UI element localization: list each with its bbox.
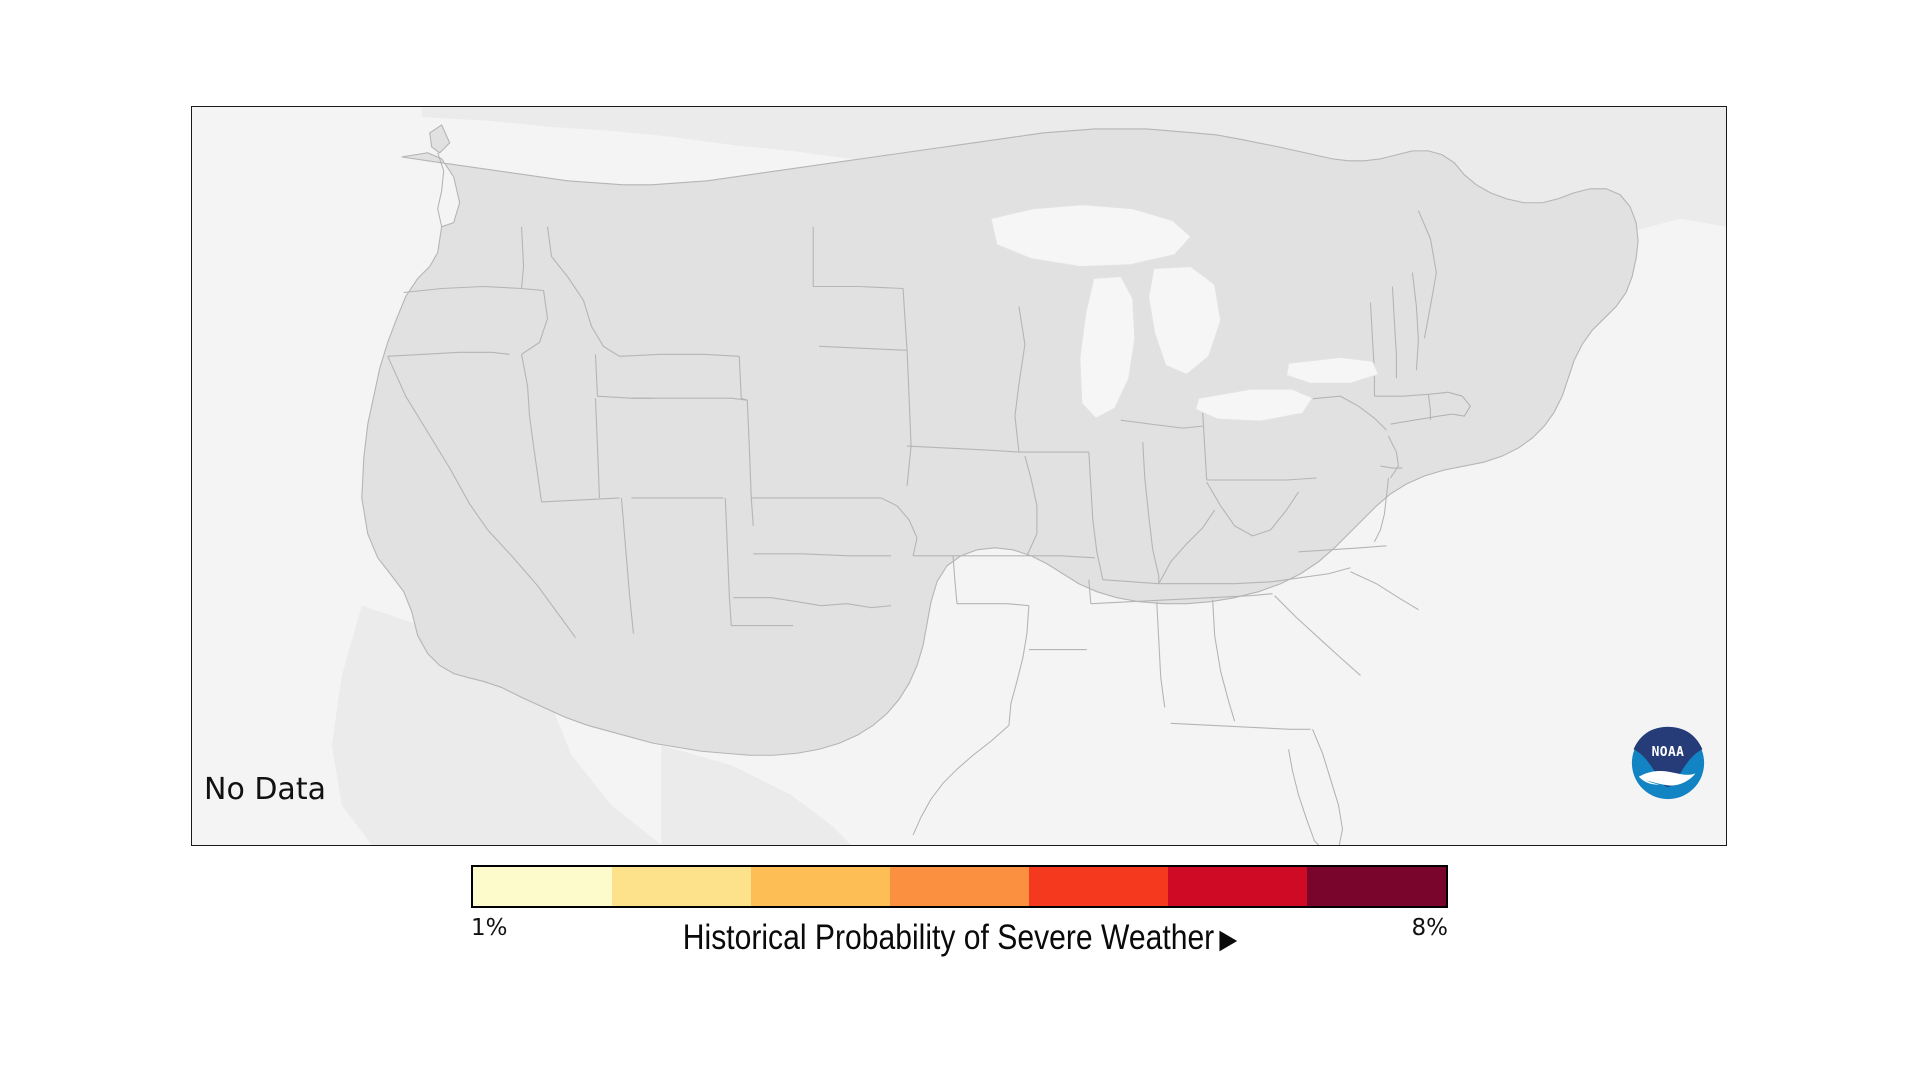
map-panel[interactable]: No Data NOAA [191, 106, 1727, 846]
legend-swatch-3[interactable] [890, 867, 1029, 906]
no-data-label: No Data [204, 772, 326, 807]
lake-ontario-overlay [1287, 357, 1379, 383]
legend-swatch-5[interactable] [1168, 867, 1307, 906]
legend-title: Historical Probability of Severe Weather… [134, 918, 1785, 958]
legend-colorbar[interactable] [471, 865, 1448, 908]
lake-huron-overlay [1149, 267, 1221, 375]
legend-title-text: Historical Probability of Severe Weather [683, 918, 1214, 957]
noaa-wordmark: NOAA [1652, 745, 1685, 760]
legend-overflow-arrow-icon: ▶ [1219, 924, 1237, 954]
legend-swatch-4[interactable] [1029, 867, 1168, 906]
lake-superior-overlay [991, 205, 1191, 267]
lake-michigan-overlay [1080, 277, 1135, 419]
noaa-logo-svg: NOAA [1625, 720, 1711, 806]
legend-swatch-6[interactable] [1307, 867, 1446, 906]
legend-swatch-2[interactable] [751, 867, 890, 906]
legend-swatch-0[interactable] [473, 867, 612, 906]
legend-swatch-1[interactable] [612, 867, 751, 906]
page-root: No Data NOAA 1% 8% Historical Probabil [0, 0, 1920, 1080]
lake-erie-overlay [1196, 389, 1313, 421]
noaa-logo[interactable]: NOAA [1625, 720, 1711, 806]
great-lakes-overlay [192, 107, 1726, 845]
